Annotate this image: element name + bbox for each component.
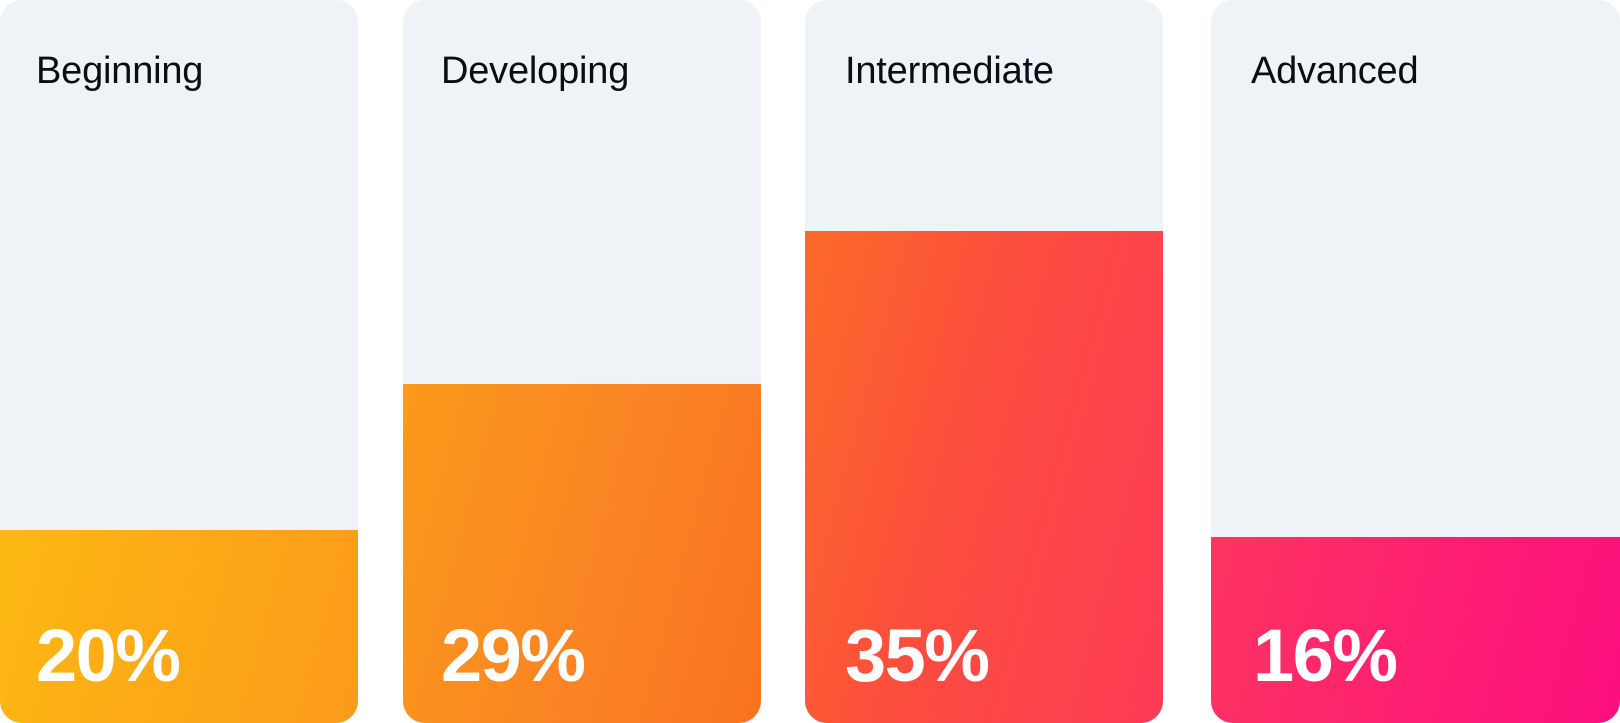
- bar-label-beginning: Beginning: [36, 52, 203, 90]
- bar-value-intermediate: 35%: [845, 619, 989, 693]
- bar-card-beginning[interactable]: Beginning 20%: [0, 0, 358, 723]
- bar-label-advanced: Advanced: [1251, 52, 1418, 90]
- bar-card-advanced[interactable]: Advanced 16%: [1211, 0, 1620, 723]
- bar-card-intermediate[interactable]: Intermediate 35%: [805, 0, 1163, 723]
- bar-value-advanced: 16%: [1253, 619, 1397, 693]
- bar-label-intermediate: Intermediate: [845, 52, 1054, 90]
- bar-card-developing[interactable]: Developing 29%: [403, 0, 761, 723]
- bar-value-beginning: 20%: [36, 619, 180, 693]
- bar-value-developing: 29%: [441, 619, 585, 693]
- proficiency-distribution-chart: Beginning 20% Developing 29% Intermediat…: [0, 0, 1620, 723]
- bar-group: Beginning 20% Developing 29% Intermediat…: [0, 0, 1620, 723]
- bar-label-developing: Developing: [441, 52, 629, 90]
